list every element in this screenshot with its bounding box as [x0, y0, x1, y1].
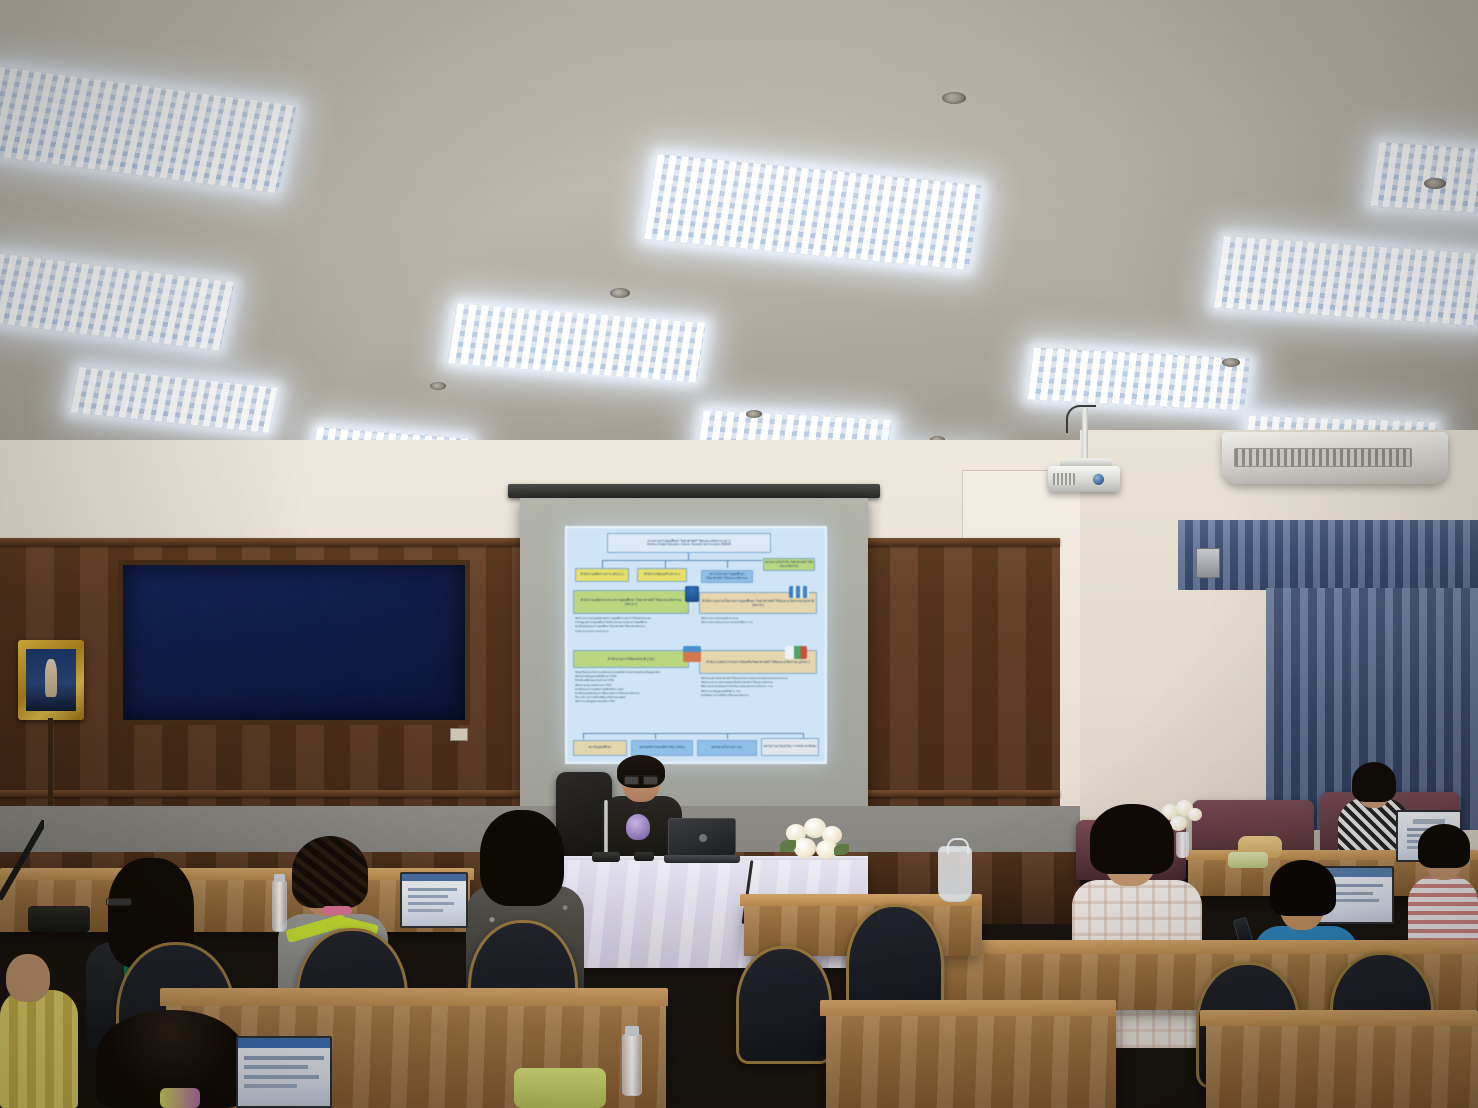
slide-bottom-box-3: หน่วยงานภาคเอกชน / ภาคประชาสังคม: [761, 738, 819, 756]
curtain-valance: [1178, 520, 1478, 590]
person-hair: [292, 836, 368, 908]
slide-bullet: ประสานงานระหว่างหน่วยงาน: [575, 630, 689, 634]
slide-connector: [727, 733, 728, 739]
speaker-corsage: [626, 814, 650, 840]
microphone-stand: [0, 820, 44, 900]
slide-bottom-box-3-label: หน่วยงานภาคเอกชน / ภาคประชาสังคม: [764, 745, 817, 749]
slide-panel-0-heading: สำนักงานปลัดกระทรวงการอุดมศึกษา วิทยาศาส…: [573, 590, 689, 614]
person-hair: [1418, 824, 1470, 868]
hair-tie: [322, 906, 352, 915]
projector-cable: [1066, 405, 1096, 433]
ceiling-light-fixture: [643, 153, 983, 271]
conference-room-photo: กระทรวงการอุดมศึกษา วิทยาศาสตร์ วิจัยและ…: [0, 0, 1478, 1108]
slide-bullet: ส่งเสริมความร่วมมือด้านวิจัยและนวัตกรรม: [701, 694, 815, 698]
smoke-detector-icon: [942, 92, 966, 104]
slide-bullet: จัดทำกรอบวงเงินงบประมาณประจำปีด้าน ววน.: [701, 621, 815, 625]
audience-person-p9: [0, 948, 78, 1108]
wall-power-outlet: [450, 728, 468, 741]
slide-connector: [583, 733, 584, 739]
slide-bottom-box-2: หน่วยงานในระบบ ววน.: [697, 740, 757, 756]
portrait-image: [26, 649, 76, 711]
desk-top-surface: [1200, 1010, 1478, 1026]
slide-panel-2-heading: สำนักงานการวิจัยแห่งชาติ (วช.): [573, 650, 689, 668]
flower-arrangement: [780, 818, 848, 866]
slide-panel-1-bullets: จัดทำนโยบายและแผนด้าน อววน. จัดทำกรอบวงเ…: [699, 616, 817, 626]
person-hair: [480, 810, 564, 906]
wall-vent-icon: [1196, 548, 1220, 578]
audience-chair[interactable]: [736, 946, 832, 1064]
ceiling-light-fixture: [1027, 346, 1252, 411]
speaker-laptop[interactable]: [664, 818, 740, 864]
desk-equipment: [28, 906, 90, 932]
desk-top-surface: [820, 1000, 1116, 1016]
slide-connector: [727, 560, 728, 568]
person-body: [0, 990, 78, 1108]
slide-chart-icon: [785, 646, 807, 659]
ceiling-speaker-icon: [610, 288, 630, 298]
projector-lens-icon: [1092, 473, 1105, 486]
slide-connector: [602, 560, 603, 568]
person-hair: [1090, 804, 1174, 874]
navy-notice-board: [118, 560, 470, 725]
ceiling-projector: [1048, 466, 1120, 492]
ceiling-light-fixture: [0, 252, 236, 351]
slide-top-box-3: หน่วยงานในกำกับ วิทยาศาสตร์ วิจัยและนวัต…: [763, 558, 815, 571]
laptop-base: [664, 855, 740, 863]
gooseneck-microphone: [604, 800, 608, 858]
slide-header-line2: Ministry of Higher Education, Science, R…: [647, 543, 731, 546]
water-bottle: [272, 880, 287, 932]
projection-screen: กระทรวงการอุดมศึกษา วิทยาศาสตร์ วิจัยและ…: [520, 498, 868, 806]
slide-bottom-box-0-label: สถาบันอุดมศึกษา: [588, 746, 611, 750]
water-bottle: [622, 1034, 642, 1096]
air-conditioner-unit: [1222, 432, 1448, 484]
audience-laptop[interactable]: [400, 872, 468, 928]
person-hair: [1352, 762, 1396, 802]
slide-top-box-2-label: สภานโยบายการอุดมศึกษา วิทยาศาสตร์ วิจัยแ…: [703, 573, 751, 580]
smoke-detector-icon: [746, 410, 762, 418]
portrait-figure: [45, 659, 57, 697]
slide-panel-2-heading-text: สำนักงานการวิจัยแห่งชาติ (วช.): [608, 657, 655, 661]
slide-bottom-box-0: สถาบันอุดมศึกษา: [573, 740, 627, 756]
ceiling-light-fixture: [1213, 235, 1478, 327]
speaker-glasses-icon: [624, 775, 658, 782]
chair-backrest: [736, 946, 832, 1064]
slide-panel-0-bullets: จัดทำนโยบายและยุทธศาสตร์การอุดมศึกษาและก…: [573, 616, 691, 635]
bottle-cap: [274, 874, 285, 882]
slide-top-box-1: สำนักงานรัฐมนตรี (สร.อว.): [637, 568, 687, 582]
laptop-lid: [668, 818, 736, 856]
slide-connector: [655, 733, 656, 739]
ac-grille-icon: [1234, 448, 1412, 467]
ceiling-light-fixture: [447, 303, 707, 384]
person-glasses-icon: [106, 898, 132, 906]
screen-roller-housing: [508, 484, 880, 498]
recessed-downlight: [1424, 178, 1446, 189]
slide-top-box-1-label: สำนักงานรัฐมนตรี (สร.อว.): [644, 573, 680, 577]
snack-tray: [514, 1068, 606, 1108]
microphone-base: [592, 852, 620, 862]
presentation-slide: กระทรวงการอุดมศึกษา วิทยาศาสตร์ วิจัยและ…: [565, 526, 827, 764]
slide-bottom-box-2-label: หน่วยงานในระบบ ววน.: [711, 746, 742, 750]
slide-panel-1-heading-text: สำนักงานสภานโยบายการอุดมศึกษา วิทยาศาสตร…: [701, 599, 815, 607]
projector-mount-pole: [1082, 408, 1088, 464]
microphone-base: [634, 852, 654, 861]
slide-top-box-0: สำนักงานปลัดกระทรวง (สป.อว.): [575, 568, 629, 582]
slide-top-box-0-label: สำนักงานปลัดกระทรวง (สป.อว.): [580, 573, 623, 577]
ceiling-light-fixture: [1369, 141, 1478, 217]
audience-desk: [1206, 1022, 1478, 1108]
desk-top-surface: [160, 988, 668, 1006]
bottle-cap: [625, 1026, 639, 1036]
slide-top-box-3-label: หน่วยงานในกำกับ วิทยาศาสตร์ วิจัยและนวัต…: [765, 561, 813, 568]
slide-connector: [602, 560, 762, 561]
laptop-logo: [699, 834, 707, 842]
audience-person-p2: [96, 1010, 246, 1108]
slide-connector: [688, 553, 689, 560]
slide-connector: [583, 733, 803, 734]
slide-panel-2-bullets: ให้ทุนวิจัยและนวัตกรรมหลักของประเทศทั้งด…: [573, 670, 691, 706]
suspended-ceiling: [0, 0, 1478, 500]
audience-laptop[interactable]: [236, 1036, 332, 1108]
recessed-downlight: [1222, 358, 1240, 367]
slide-panel-0-heading-text: สำนักงานปลัดกระทรวงการอุดมศึกษา วิทยาศาส…: [575, 598, 687, 606]
ceiling-light-fixture: [0, 66, 298, 195]
slide-people-icon: [789, 586, 809, 598]
hair-clip: [160, 1088, 200, 1108]
slide-top-box-2: สภานโยบายการอุดมศึกษา วิทยาศาสตร์ วิจัยแ…: [701, 570, 753, 583]
ceiling-light-fixture: [69, 366, 278, 434]
royal-portrait-frame: [18, 640, 84, 720]
slide-panel-3-heading-text: สำนักงานคณะกรรมการส่งเสริมวิทยาศาสตร์ วิ…: [706, 660, 810, 664]
slide-book-icon: [683, 646, 701, 662]
person-hair: [1270, 860, 1336, 916]
person-head: [6, 954, 50, 1002]
slide-connector: [665, 560, 666, 568]
projector-vent-icon: [1053, 473, 1075, 485]
audience-desk: [826, 1012, 1116, 1108]
laptop-screen: [400, 872, 468, 928]
slide-bullet: จัดทำระบบข้อมูลสารสนเทศการวิจัย: [575, 700, 689, 704]
slide-panel-3-bullets: จัดทำแผนด้านวิทยาศาสตร์ วิจัยและนวัตกรรม…: [699, 676, 817, 699]
slide-graduate-icon: [685, 586, 699, 602]
slide-bottom-box-1: หน่วยบริหารและจัดการทุน (PMU): [631, 740, 693, 756]
white-plastic-bag: [938, 846, 972, 902]
recessed-downlight: [430, 382, 446, 390]
slide-bottom-box-1-label: หน่วยบริหารและจัดการทุน (PMU): [639, 746, 684, 750]
slide-header-box: กระทรวงการอุดมศึกษา วิทยาศาสตร์ วิจัยและ…: [607, 533, 771, 553]
laptop-screen: [236, 1036, 332, 1108]
